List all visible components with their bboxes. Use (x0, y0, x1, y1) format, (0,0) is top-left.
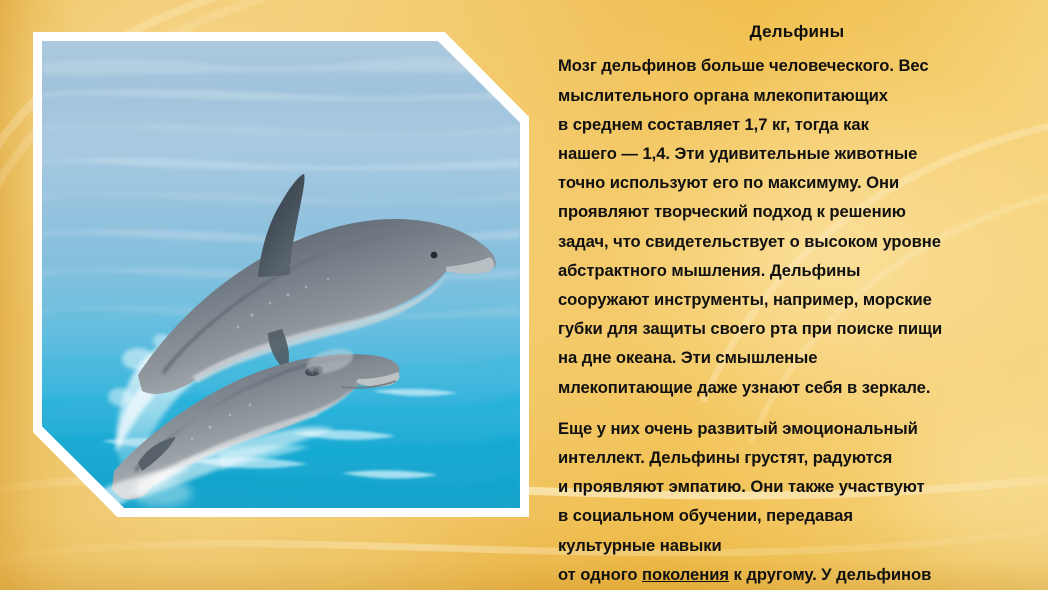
paragraph-one-text: Мозг дельфинов больше человеческого. Вес… (558, 56, 942, 396)
presentation-slide: Дельфины Мозг дельфинов больше человечес… (0, 0, 1048, 590)
dolphin-photo-artwork (42, 41, 520, 508)
dolphin-photo-frame (33, 32, 529, 517)
dolphin-photo (42, 41, 520, 508)
page-title: Дельфины (558, 22, 1036, 42)
text-content-column: Дельфины Мозг дельфинов больше человечес… (558, 14, 1036, 576)
paragraph-two: Еще у них очень развитый эмоциональный и… (558, 414, 1036, 590)
paragraph-one: Мозг дельфинов больше человеческого. Вес… (558, 51, 1036, 401)
paragraph-two-text-before-link: Еще у них очень развитый эмоциональный и… (558, 419, 925, 584)
underlined-word-pokoleniya[interactable]: поколения (642, 565, 729, 584)
